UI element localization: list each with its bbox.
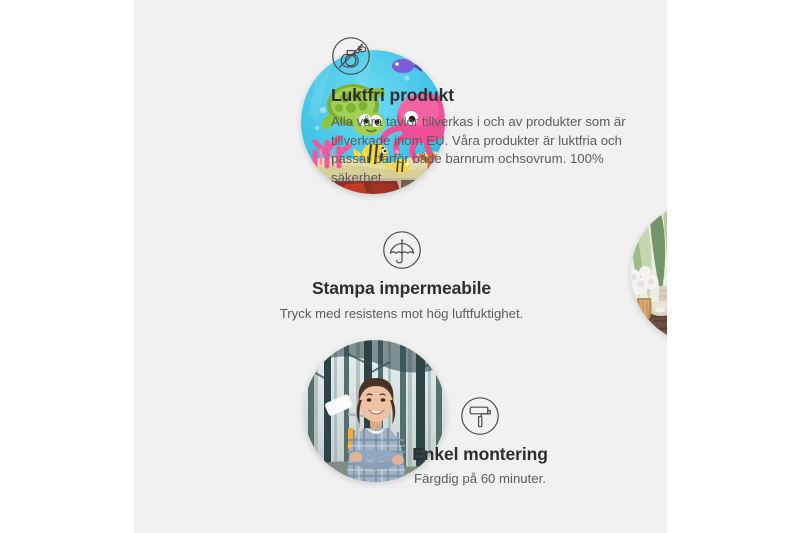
photo-bathroom: [631, 202, 667, 344]
paint-roller-icon: [460, 396, 500, 436]
feature-mounting: Enkel montering Färgdig på 60 minuter.: [330, 396, 630, 489]
feature-title: Stampa impermeabile: [204, 278, 599, 299]
page-root: Luktfri produkt Alla våra tavlor tillver…: [0, 0, 800, 533]
feature-title: Enkel montering: [330, 444, 630, 465]
feature-body: Alla våra tavlor tillverkas i och av pro…: [331, 113, 626, 188]
bathroom-illustration: [631, 202, 667, 344]
feature-waterproof: Stampa impermeabile Tryck med resistens …: [204, 230, 599, 324]
feature-body: Färgdig på 60 minuter.: [330, 470, 630, 489]
feature-odourless: Luktfri produkt Alla våra tavlor tillver…: [331, 36, 626, 188]
umbrella-icon: [382, 230, 422, 270]
no-odour-spray-bottle-icon: [331, 36, 371, 76]
content-panel: Luktfri produkt Alla våra tavlor tillver…: [134, 0, 667, 533]
feature-title: Luktfri produkt: [331, 85, 626, 106]
feature-body: Tryck med resistens mot hög luftfuktighe…: [204, 305, 599, 324]
